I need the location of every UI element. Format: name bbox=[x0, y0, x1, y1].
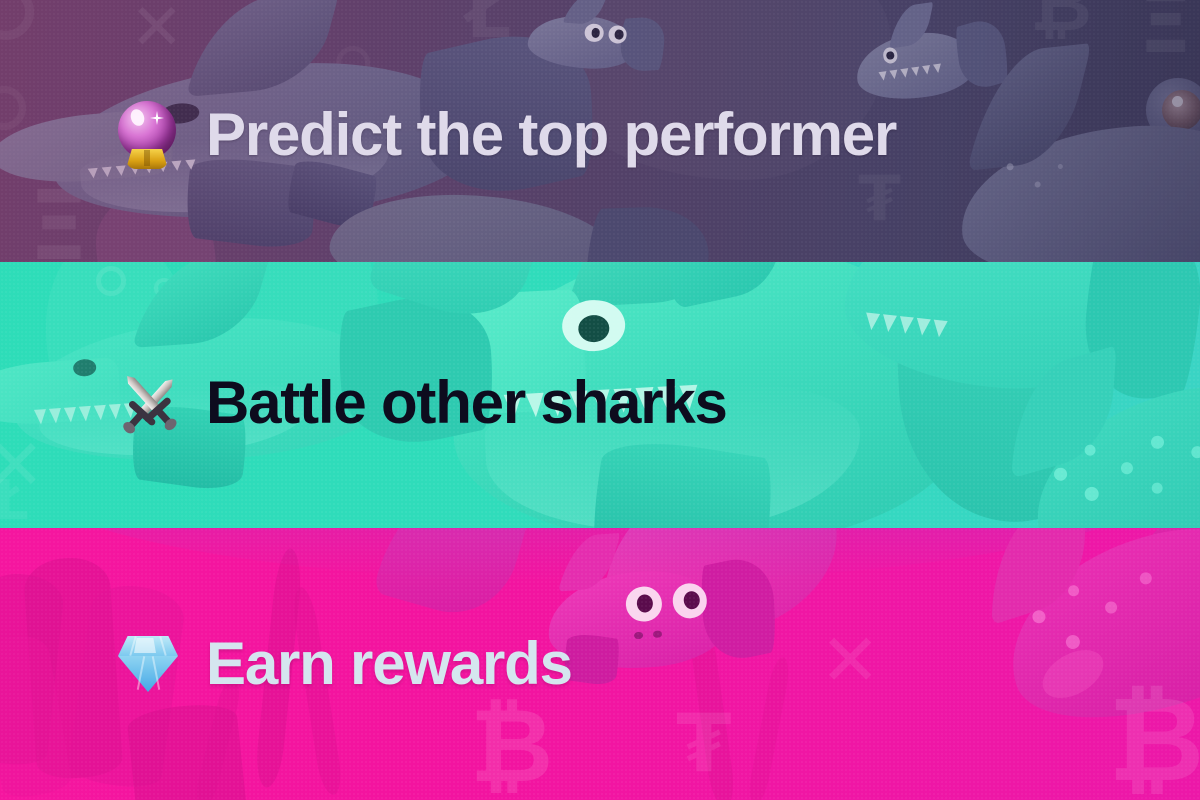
gem-stone-icon bbox=[112, 628, 184, 700]
shark-eye-glint bbox=[1172, 96, 1183, 107]
promo-banner: ✕ Ł ₿ Ξ Ξ ₮ bbox=[0, 0, 1200, 800]
headline-predict: Predict the top performer bbox=[206, 99, 896, 171]
shark-illustration bbox=[526, 12, 637, 71]
feature-row-predict: Predict the top performer bbox=[112, 99, 896, 171]
feature-row-rewards: Earn rewards bbox=[112, 628, 572, 700]
bubble-icon bbox=[0, 0, 34, 40]
seaweed-silhouette bbox=[746, 656, 792, 800]
litecoin-symbol-icon: Ł bbox=[0, 474, 29, 528]
ripple-symbol-icon: ✕ bbox=[820, 624, 880, 696]
bitcoin-symbol-icon: ₿ bbox=[1108, 680, 1200, 798]
crystal-ball-icon bbox=[112, 99, 184, 171]
headline-battle: Battle other sharks bbox=[206, 367, 727, 439]
tether-symbol-icon: ₮ bbox=[858, 168, 901, 230]
feature-row-battle: Battle other sharks bbox=[112, 367, 727, 439]
ethereum-symbol-icon: Ξ bbox=[1138, 0, 1192, 66]
bitcoin-symbol-icon: ₿ bbox=[1030, 0, 1092, 42]
bitcoin-symbol-icon: ₿ bbox=[470, 696, 553, 798]
shark-illustration bbox=[545, 566, 731, 674]
crossed-swords-icon bbox=[112, 367, 184, 439]
ripple-symbol-icon: ✕ bbox=[130, 0, 184, 60]
shark-illustration bbox=[953, 112, 1200, 262]
headline-rewards: Earn rewards bbox=[206, 628, 572, 700]
bubble-icon bbox=[0, 86, 26, 130]
tether-symbol-icon: ₮ bbox=[676, 704, 732, 784]
